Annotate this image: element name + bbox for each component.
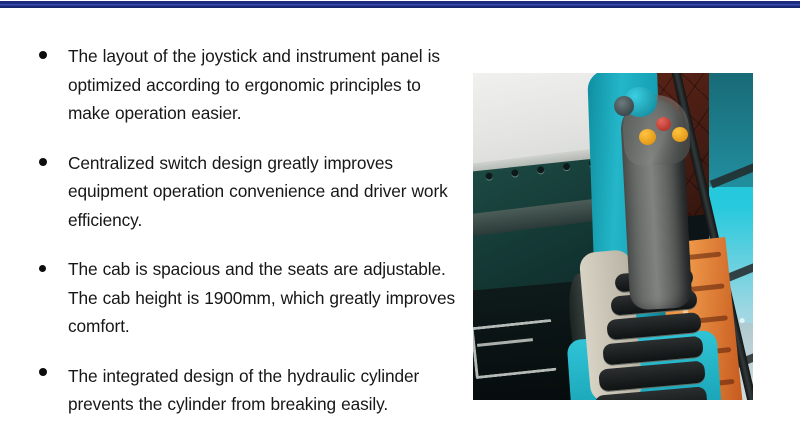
list-item: The cab is spacious and the seats are ad…	[34, 255, 464, 341]
photo-pivot-cap	[614, 96, 634, 116]
list-item: Centralized switch design greatly improv…	[34, 149, 464, 235]
list-item-text: The integrated design of the hydraulic c…	[68, 366, 419, 415]
bullet-icon	[39, 368, 47, 376]
cab-joystick-photo	[473, 73, 753, 400]
photo-metal-bracket	[473, 319, 556, 379]
photo-yellow-button-right	[672, 127, 688, 142]
feature-list: The layout of the joystick and instrumen…	[34, 42, 464, 419]
bullet-icon	[39, 265, 46, 272]
bullet-icon	[39, 158, 47, 166]
list-item-text: The layout of the joystick and instrumen…	[68, 46, 440, 123]
photo-red-button	[656, 117, 671, 131]
slide-body: The layout of the joystick and instrumen…	[0, 8, 800, 446]
list-item-text: The cab is spacious and the seats are ad…	[68, 259, 455, 336]
list-item: The integrated design of the hydraulic c…	[34, 362, 464, 419]
bullet-icon	[39, 51, 47, 59]
top-accent-bar	[0, 1, 800, 8]
list-item: The layout of the joystick and instrumen…	[34, 42, 464, 128]
photo-yellow-button-left	[639, 129, 656, 145]
list-item-text: Centralized switch design greatly improv…	[68, 153, 448, 230]
